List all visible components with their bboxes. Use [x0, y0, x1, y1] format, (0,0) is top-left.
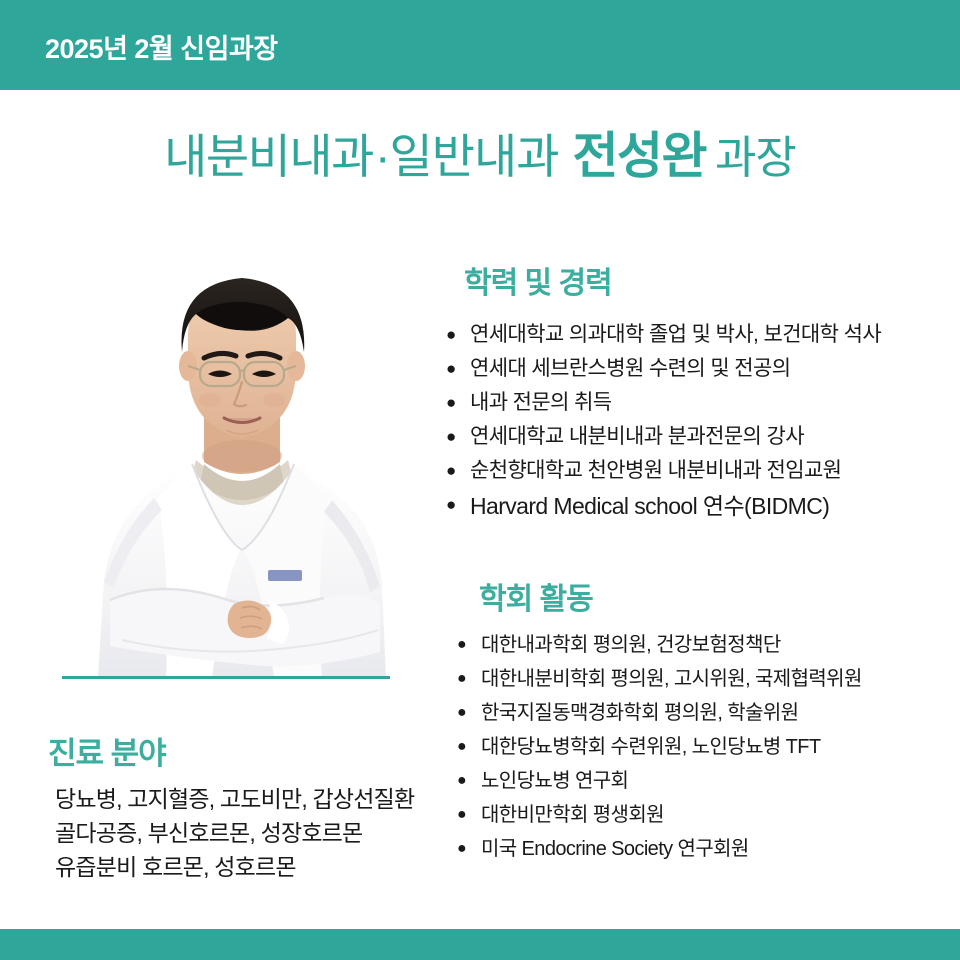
portrait-illustration	[92, 248, 392, 678]
list-item: ●대한비만학회 평생회원	[457, 798, 957, 832]
header-bar: 2025년 2월 신임과장	[0, 0, 960, 90]
section-divider	[62, 676, 390, 679]
list-item-label: 대한내분비학회 평의원, 고시위원, 국제협력위원	[481, 668, 862, 690]
list-item-label: 순천향대학교 천안병원 내분비내과 전임교원	[470, 459, 841, 482]
specialty-lines: 당뇨병, 고지혈증, 고도비만, 갑상선질환 골다공증, 부신호르몬, 성장호르…	[55, 782, 455, 884]
education-list: ●연세대학교 의과대학 졸업 및 박사, 보건대학 석사 ●연세대 세브란스병원…	[446, 318, 956, 524]
list-item-label: 연세대학교 의과대학 졸업 및 박사, 보건대학 석사	[470, 323, 881, 346]
title-department-primary: 내분비내과	[164, 130, 373, 183]
footer-bar	[0, 929, 960, 960]
society-heading: 학회 활동	[479, 574, 593, 618]
title-department-secondary: ·일반내과	[373, 130, 559, 183]
list-item: ●연세대학교 내분비내과 분과전문의 강사	[446, 420, 956, 454]
list-item-label: 내과 전문의 취득	[470, 391, 612, 414]
specialty-heading: 진료 분야	[48, 728, 166, 773]
specialty-line: 당뇨병, 고지혈증, 고도비만, 갑상선질환	[55, 782, 455, 816]
list-item-label: 대한당뇨병학회 수련위원, 노인당뇨병 TFT	[481, 736, 820, 758]
education-heading: 학력 및 경력	[464, 258, 612, 302]
bullet-icon: ●	[457, 696, 466, 730]
list-item-label: 노인당뇨병 연구회	[481, 770, 628, 792]
list-item: ●Harvard Medical school 연수(BIDMC)	[446, 488, 956, 524]
bullet-icon: ●	[446, 488, 456, 522]
bullet-icon: ●	[457, 730, 466, 764]
list-item-label: 연세대학교 내분비내과 분과전문의 강사	[470, 425, 804, 448]
list-item: ●내과 전문의 취득	[446, 386, 956, 420]
list-item: ●미국 Endocrine Society 연구회원	[457, 832, 957, 866]
title-doctor-name: 전성완	[559, 128, 707, 184]
list-item-label: 미국 Endocrine Society 연구회원	[481, 838, 749, 860]
title-rank: 과장	[706, 132, 796, 183]
list-item: ●연세대 세브란스병원 수련의 및 전공의	[446, 352, 956, 386]
bullet-icon: ●	[457, 628, 466, 662]
list-item-label: Harvard Medical school 연수(BIDMC)	[470, 493, 829, 519]
bullet-icon: ●	[446, 352, 456, 386]
bullet-icon: ●	[457, 764, 466, 798]
society-list: ●대한내과학회 평의원, 건강보험정책단 ●대한내분비학회 평의원, 고시위원,…	[457, 628, 957, 866]
bullet-icon: ●	[446, 386, 456, 420]
specialty-line: 골다공증, 부신호르몬, 성장호르몬	[55, 816, 455, 850]
list-item: ●순천향대학교 천안병원 내분비내과 전임교원	[446, 454, 956, 488]
header-title: 2025년 2월 신임과장	[45, 27, 278, 66]
page-title: 내분비내과·일반내과전성완과장	[0, 131, 960, 181]
doctor-profile-card: 2025년 2월 신임과장 내분비내과·일반내과전성완과장	[0, 0, 960, 960]
bullet-icon: ●	[446, 420, 456, 454]
list-item: ●대한당뇨병학회 수련위원, 노인당뇨병 TFT	[457, 730, 957, 764]
list-item-label: 한국지질동맥경화학회 평의원, 학술위원	[481, 702, 798, 724]
list-item: ●대한내분비학회 평의원, 고시위원, 국제협력위원	[457, 662, 957, 696]
specialty-line: 유즙분비 호르몬, 성호르몬	[55, 850, 455, 884]
bullet-icon: ●	[446, 454, 456, 488]
list-item-label: 연세대 세브란스병원 수련의 및 전공의	[470, 357, 790, 380]
bullet-icon: ●	[446, 318, 456, 352]
list-item-label: 대한내과학회 평의원, 건강보험정책단	[481, 634, 781, 656]
list-item: ●한국지질동맥경화학회 평의원, 학술위원	[457, 696, 957, 730]
list-item: ●노인당뇨병 연구회	[457, 764, 957, 798]
list-item: ●연세대학교 의과대학 졸업 및 박사, 보건대학 석사	[446, 318, 956, 352]
bullet-icon: ●	[457, 832, 466, 866]
bullet-icon: ●	[457, 798, 466, 832]
list-item: ●대한내과학회 평의원, 건강보험정책단	[457, 628, 957, 662]
doctor-portrait-photo	[92, 248, 392, 678]
list-item-label: 대한비만학회 평생회원	[481, 804, 664, 826]
bullet-icon: ●	[457, 662, 466, 696]
